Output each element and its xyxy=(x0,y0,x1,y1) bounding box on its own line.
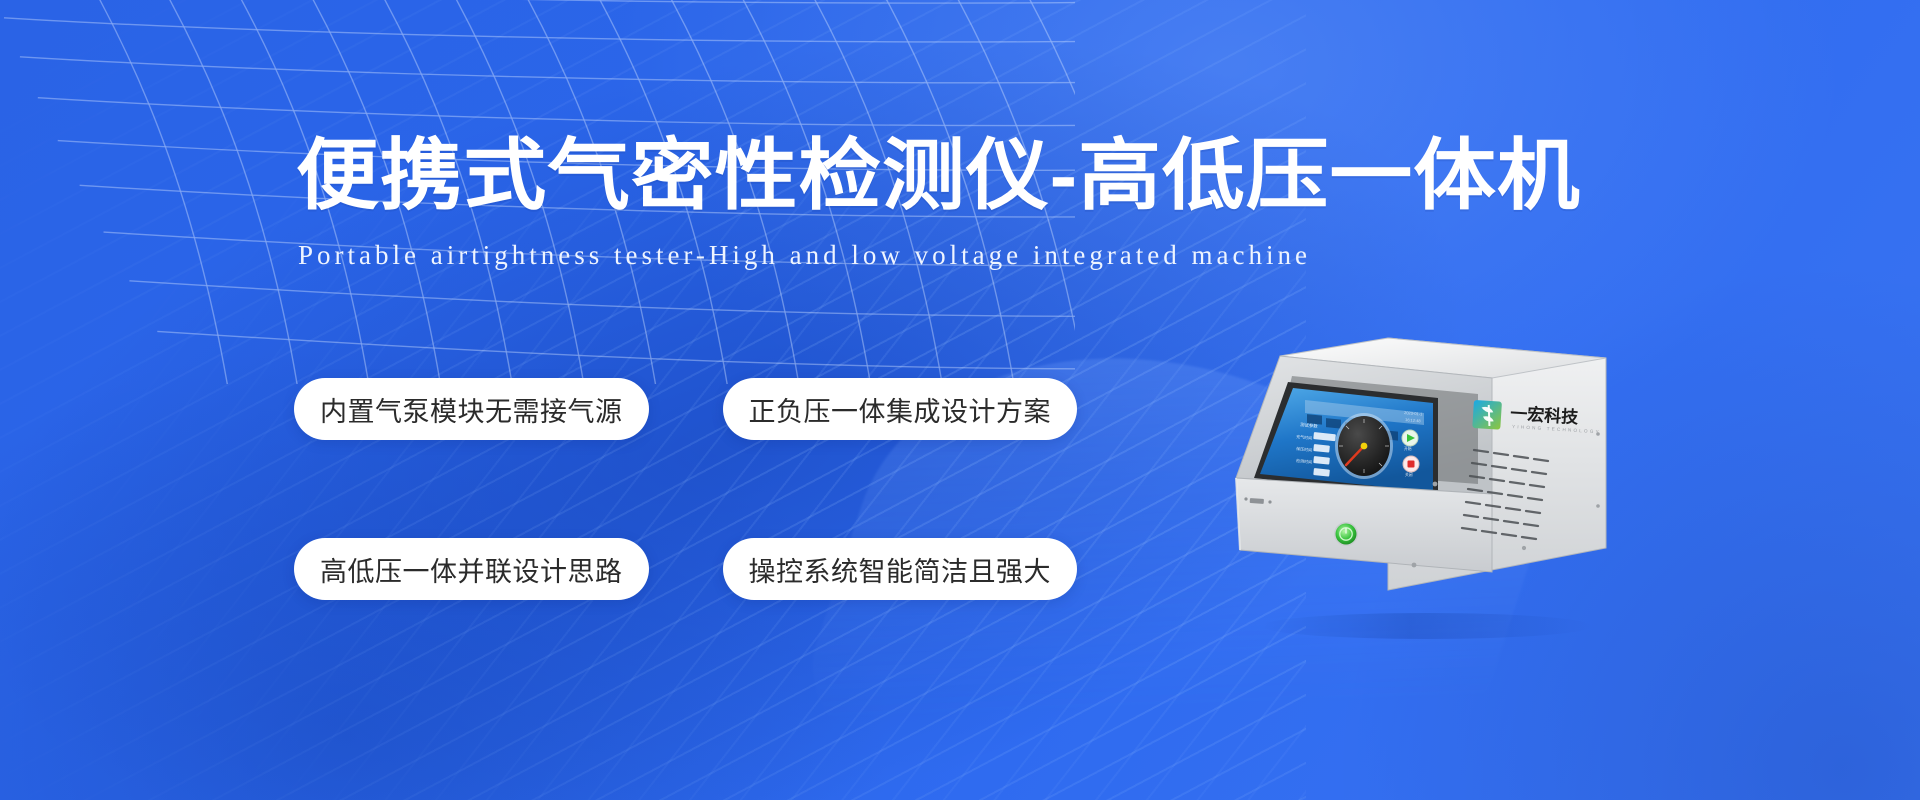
svg-text:关闭: 关闭 xyxy=(1405,472,1413,477)
screen-gauge xyxy=(1335,413,1393,479)
feature-pill-2-label: 正负压一体集成设计方案 xyxy=(749,390,1052,429)
feature-pill-1[interactable]: 内置气泵模块无需接气源 xyxy=(294,378,649,440)
headline-block: 便携式气密性检测仪-高低压一体机 Portable airtightness t… xyxy=(296,132,1636,272)
svg-text:开始: 开始 xyxy=(1404,446,1412,451)
product-image-airtightness-tester: 2023-01-1 16:12:48 测试参数 xyxy=(1192,322,1632,652)
feature-pill-group: 内置气泵模块无需接气源 正负压一体集成设计方案 高低压一体并联设计思路 操控系统… xyxy=(294,378,1154,600)
page-title: 便携式气密性检测仪-高低压一体机 xyxy=(296,132,1716,218)
feature-pill-row-1: 内置气泵模块无需接气源 正负压一体集成设计方案 xyxy=(294,378,1154,440)
feature-pill-4[interactable]: 操控系统智能简洁且强大 xyxy=(723,538,1078,600)
screen-start-button[interactable] xyxy=(1402,430,1418,446)
feature-pill-2[interactable]: 正负压一体集成设计方案 xyxy=(723,378,1078,440)
banner-content: 便携式气密性检测仪-高低压一体机 Portable airtightness t… xyxy=(0,0,1920,800)
promo-banner: 便携式气密性检测仪-高低压一体机 Portable airtightness t… xyxy=(0,0,1920,800)
screen-stop-button[interactable] xyxy=(1403,456,1419,472)
device-front-face xyxy=(1236,478,1492,572)
power-button[interactable] xyxy=(1334,522,1358,546)
feature-pill-3[interactable]: 高低压一体并联设计思路 xyxy=(294,538,649,600)
feature-pill-4-label: 操控系统智能简洁且强大 xyxy=(749,550,1052,589)
device-shadow xyxy=(1262,613,1592,639)
feature-pill-row-2: 高低压一体并联设计思路 操控系统智能简洁且强大 xyxy=(294,538,1154,600)
feature-pill-1-label: 内置气泵模块无需接气源 xyxy=(320,390,623,429)
page-subtitle: Portable airtightness tester-High and lo… xyxy=(298,238,1636,272)
feature-pill-3-label: 高低压一体并联设计思路 xyxy=(320,550,623,589)
